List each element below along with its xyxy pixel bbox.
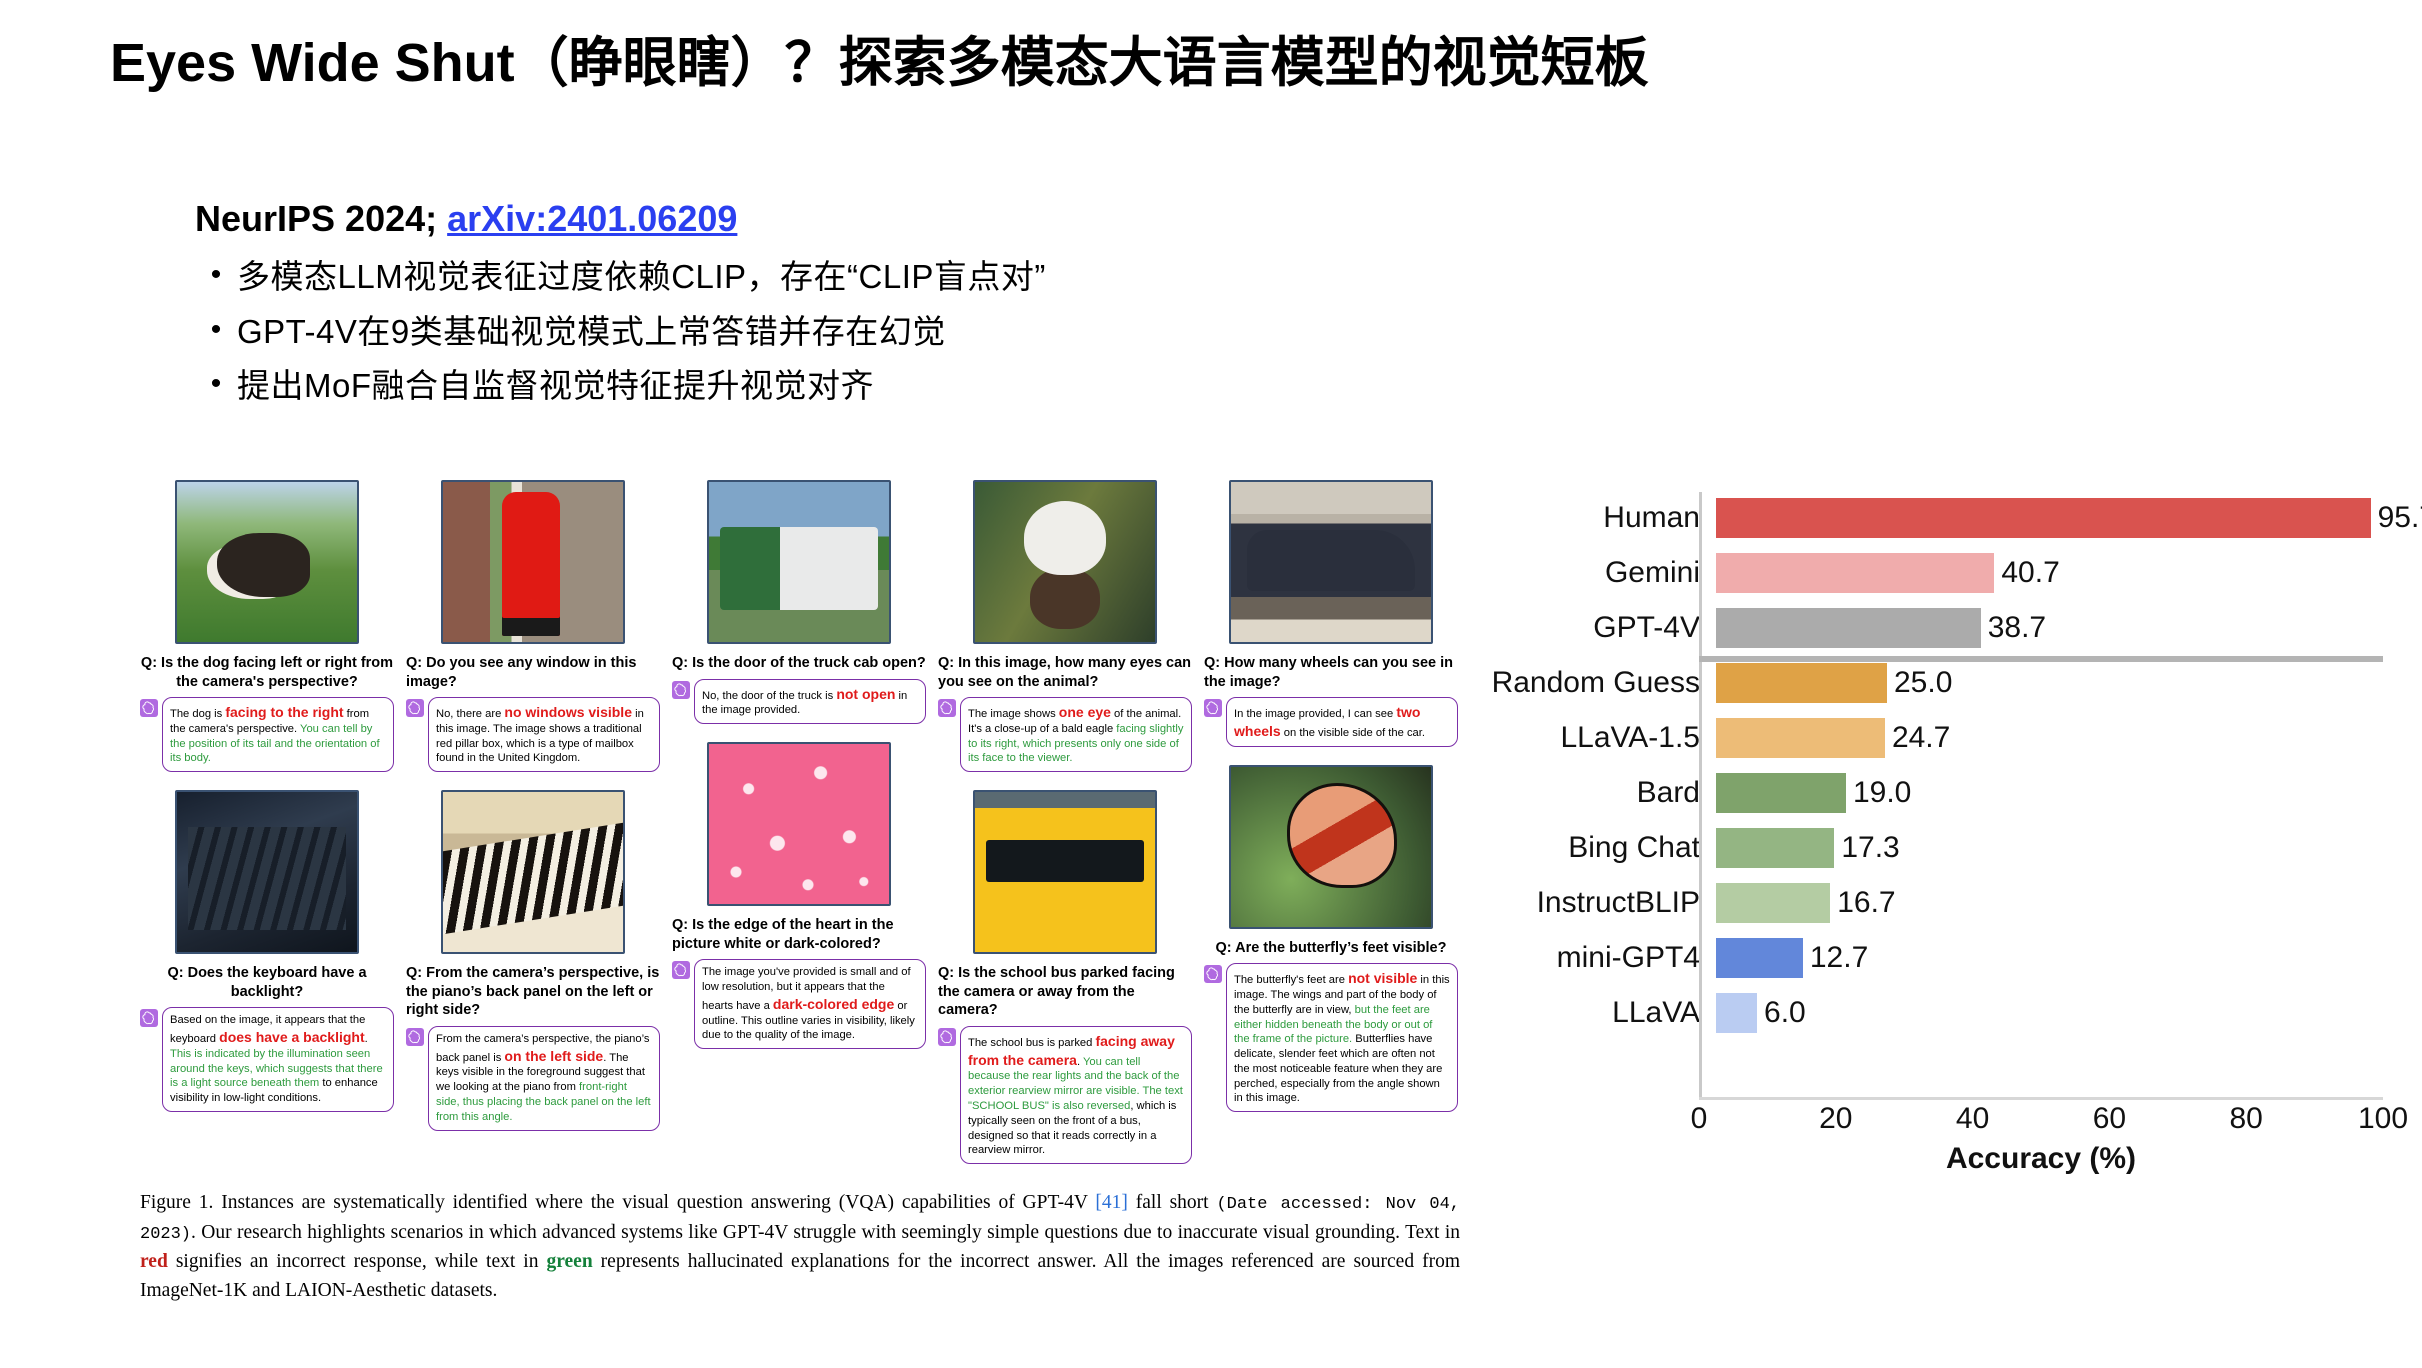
figure-grid: Q: Is the dog facing left or right from … xyxy=(140,480,1460,1170)
figure-column-2: Q: Do you see any window in this image? … xyxy=(406,480,660,1170)
chart-value-label: 6.0 xyxy=(1764,996,1806,1030)
gpt-answer: The image you've provided is small and o… xyxy=(694,959,926,1049)
vqa-panel: Q: Are the butterfly’s feet visible? The… xyxy=(1204,765,1458,1113)
gpt-answer: The school bus is parked facing away fro… xyxy=(960,1026,1192,1164)
bullet-text: 提出MoF融合自监督视觉特征提升视觉对齐 xyxy=(237,364,874,409)
chart-value-label: 19.0 xyxy=(1853,776,1911,810)
panel-question: Q: Is the school bus parked facing the c… xyxy=(938,964,1192,1020)
openai-logo-icon xyxy=(406,699,424,717)
caption-citation[interactable]: [41] xyxy=(1095,1192,1128,1213)
chart-row: GPT-4V38.7 xyxy=(1455,600,2385,655)
convertible-car-photo xyxy=(1229,480,1433,644)
chart-value-label: 38.7 xyxy=(1988,611,2046,645)
chart-value-label: 17.3 xyxy=(1841,831,1899,865)
panel-question: Q: Is the edge of the heart in the pictu… xyxy=(672,916,926,953)
chart-bar-zone: 24.7 xyxy=(1716,710,2385,765)
chart-value-label: 16.7 xyxy=(1837,886,1895,920)
panel-question: Q: From the camera’s perspective, is the… xyxy=(406,964,660,1020)
gpt-answer: From the camera’s perspective, the piano… xyxy=(428,1026,660,1131)
gpt-answer: No, the door of the truck is not open in… xyxy=(694,679,926,725)
figure-1: Q: Is the dog facing left or right from … xyxy=(140,480,1460,1280)
chart-bar xyxy=(1716,773,1846,813)
answer-bubble-wrap: The image shows one eye of the animal. I… xyxy=(938,697,1192,772)
accuracy-bar-chart: Human95.7Gemini40.7GPT-4V38.7Random Gues… xyxy=(1455,490,2385,1170)
chart-bar xyxy=(1716,718,1885,758)
chart-value-label: 12.7 xyxy=(1810,941,1868,975)
bullet-block: NeurIPS 2024; arXiv:2401.06209 • 多模态LLM视… xyxy=(195,196,1455,419)
answer-bubble-wrap: The butterfly's feet are not visible in … xyxy=(1204,963,1458,1112)
chart-value-label: 95.7 xyxy=(2378,501,2422,535)
openai-logo-icon xyxy=(672,961,690,979)
chart-row: mini-GPT412.7 xyxy=(1455,930,2385,985)
chart-bar-zone: 6.0 xyxy=(1716,985,2385,1040)
vqa-panel: Q: Is the dog facing left or right from … xyxy=(140,480,394,772)
chart-category-label: InstructBLIP xyxy=(1455,886,1716,920)
chart-tick-label: 20 xyxy=(1819,1102,1852,1136)
bullet-item-2: • GPT-4V在9类基础视觉模式上常答错并存在幻觉 xyxy=(195,310,1455,355)
bullet-text: GPT-4V在9类基础视觉模式上常答错并存在幻觉 xyxy=(237,310,946,355)
openai-logo-icon xyxy=(406,1028,424,1046)
gpt-answer: In the image provided, I can see two whe… xyxy=(1226,697,1458,747)
figure-caption: Figure 1. Instances are systematically i… xyxy=(140,1188,1460,1306)
monarch-butterfly-photo xyxy=(1229,765,1433,929)
chart-bar-zone: 40.7 xyxy=(1716,545,2385,600)
arxiv-link[interactable]: arXiv:2401.06209 xyxy=(447,198,737,239)
chart-category-label: GPT-4V xyxy=(1455,611,1716,645)
garbage-truck-photo xyxy=(707,480,891,644)
caption-part-1: Figure 1. Instances are systematically i… xyxy=(140,1192,1095,1213)
bullet-marker: • xyxy=(195,255,237,296)
gpt-answer: No, there are no windows visible in this… xyxy=(428,697,660,772)
vqa-panel: Q: Is the door of the truck cab open? No… xyxy=(672,480,926,724)
bullet-text: 多模态LLM视觉表征过度依赖CLIP，存在“CLIP盲点对” xyxy=(237,255,1046,300)
figure-column-3: Q: Is the door of the truck cab open? No… xyxy=(672,480,926,1170)
chart-bar-zone: 25.0 xyxy=(1716,655,2385,710)
answer-bubble-wrap: In the image provided, I can see two whe… xyxy=(1204,697,1458,747)
chart-bar-zone: 16.7 xyxy=(1716,875,2385,930)
chart-tick-label: 0 xyxy=(1691,1102,1708,1136)
figure-column-4: Q: In this image, how many eyes can you … xyxy=(938,480,1192,1170)
chart-category-label: Bing Chat xyxy=(1455,831,1716,865)
chart-value-label: 24.7 xyxy=(1892,721,1950,755)
panel-question: Q: Does the keyboard have a backlight? xyxy=(140,964,394,1001)
red-pillar-box-photo xyxy=(441,480,625,644)
vqa-panel: Q: How many wheels can you see in the im… xyxy=(1204,480,1458,747)
chart-category-label: mini-GPT4 xyxy=(1455,941,1716,975)
caption-red-word: red xyxy=(140,1251,168,1272)
chart-bar xyxy=(1716,553,1994,593)
openai-logo-icon xyxy=(1204,965,1222,983)
chart-row: Bard19.0 xyxy=(1455,765,2385,820)
answer-bubble-wrap: Based on the image, it appears that the … xyxy=(140,1007,394,1112)
chart-tick-label: 80 xyxy=(2230,1102,2263,1136)
openai-logo-icon xyxy=(140,1009,158,1027)
chart-x-axis-line xyxy=(1699,1097,2383,1100)
caption-part-3: . Our research highlights scenarios in w… xyxy=(191,1222,1460,1243)
chart-category-label: LLaVA xyxy=(1455,996,1716,1030)
panel-question: Q: Are the butterfly’s feet visible? xyxy=(1204,939,1458,958)
dog-in-field-photo xyxy=(175,480,359,644)
caption-part-2: fall short xyxy=(1128,1192,1217,1213)
gpt-answer: The butterfly's feet are not visible in … xyxy=(1226,963,1458,1112)
caption-green-word: green xyxy=(546,1251,592,1272)
chart-bar xyxy=(1716,608,1981,648)
chart-x-ticks: 020406080100 xyxy=(1699,1102,2383,1142)
bullet-marker: • xyxy=(195,364,237,405)
chart-bar xyxy=(1716,828,1834,868)
openai-logo-icon xyxy=(938,1028,956,1046)
chart-bar-zone: 12.7 xyxy=(1716,930,2385,985)
chart-bar xyxy=(1716,993,1757,1033)
gpt-answer: Based on the image, it appears that the … xyxy=(162,1007,394,1112)
chart-value-label: 40.7 xyxy=(2001,556,2059,590)
answer-bubble-wrap: From the camera’s perspective, the piano… xyxy=(406,1026,660,1131)
chart-category-label: Gemini xyxy=(1455,556,1716,590)
chart-category-label: Bard xyxy=(1455,776,1716,810)
chart-row: LLaVA6.0 xyxy=(1455,985,2385,1040)
chart-x-axis-label: Accuracy (%) xyxy=(1699,1142,2383,1176)
vqa-panel: Q: Do you see any window in this image? … xyxy=(406,480,660,772)
chart-bar xyxy=(1716,663,1887,703)
gpt-answer: The image shows one eye of the animal. I… xyxy=(960,697,1192,772)
chart-row: Bing Chat17.3 xyxy=(1455,820,2385,875)
chart-bar xyxy=(1716,883,1830,923)
vqa-panel: Q: Does the keyboard have a backlight? B… xyxy=(140,790,394,1112)
answer-bubble-wrap: The dog is facing to the right from the … xyxy=(140,697,394,772)
bullet-marker: • xyxy=(195,310,237,351)
chart-row: Gemini40.7 xyxy=(1455,545,2385,600)
panel-question: Q: Is the door of the truck cab open? xyxy=(672,654,926,673)
vqa-panel: Q: From the camera’s perspective, is the… xyxy=(406,790,660,1130)
chart-bar-rows: Human95.7Gemini40.7GPT-4V38.7Random Gues… xyxy=(1455,490,2385,1040)
answer-bubble-wrap: The image you've provided is small and o… xyxy=(672,959,926,1049)
figure-column-1: Q: Is the dog facing left or right from … xyxy=(140,480,394,1170)
figure-column-5: Q: How many wheels can you see in the im… xyxy=(1204,480,1458,1170)
answer-bubble-wrap: No, there are no windows visible in this… xyxy=(406,697,660,772)
chart-tick-label: 60 xyxy=(2093,1102,2126,1136)
answer-bubble-wrap: The school bus is parked facing away fro… xyxy=(938,1026,1192,1164)
chart-row: LLaVA-1.524.7 xyxy=(1455,710,2385,765)
panel-question: Q: Do you see any window in this image? xyxy=(406,654,660,691)
panel-question: Q: Is the dog facing left or right from … xyxy=(140,654,394,691)
bullet-item-3: • 提出MoF融合自监督视觉特征提升视觉对齐 xyxy=(195,364,1455,409)
chart-value-label: 25.0 xyxy=(1894,666,1952,700)
chart-bar-zone: 38.7 xyxy=(1716,600,2385,655)
venue-prefix: NeurIPS 2024; xyxy=(195,198,437,239)
chart-separator-line xyxy=(1699,656,2383,662)
page-title: Eyes Wide Shut（睁眼瞎）？探索多模态大语言模型的视觉短板 xyxy=(110,34,2360,93)
openai-logo-icon xyxy=(672,681,690,699)
chart-row: Random Guess25.0 xyxy=(1455,655,2385,710)
chart-bar-zone: 19.0 xyxy=(1716,765,2385,820)
school-bus-photo xyxy=(973,790,1157,954)
gpt-answer: The dog is facing to the right from the … xyxy=(162,697,394,772)
chart-row: Human95.7 xyxy=(1455,490,2385,545)
openai-logo-icon xyxy=(140,699,158,717)
chart-bar-zone: 95.7 xyxy=(1716,490,2422,545)
answer-bubble-wrap: No, the door of the truck is not open in… xyxy=(672,679,926,725)
hearts-pattern-photo xyxy=(707,742,891,906)
venue-line: NeurIPS 2024; arXiv:2401.06209 xyxy=(195,196,1455,241)
openai-logo-icon xyxy=(938,699,956,717)
piano-keys-photo xyxy=(441,790,625,954)
panel-question: Q: In this image, how many eyes can you … xyxy=(938,654,1192,691)
chart-tick-label: 100 xyxy=(2358,1102,2408,1136)
chart-category-label: Human xyxy=(1455,501,1716,535)
bullet-item-1: • 多模态LLM视觉表征过度依赖CLIP，存在“CLIP盲点对” xyxy=(195,255,1455,300)
caption-part-4: signifies an incorrect response, while t… xyxy=(168,1251,547,1272)
chart-tick-label: 40 xyxy=(1956,1102,1989,1136)
chart-row: InstructBLIP16.7 xyxy=(1455,875,2385,930)
vqa-panel: Q: In this image, how many eyes can you … xyxy=(938,480,1192,772)
vqa-panel: Q: Is the school bus parked facing the c… xyxy=(938,790,1192,1164)
backlit-keyboard-photo xyxy=(175,790,359,954)
bald-eagle-photo xyxy=(973,480,1157,644)
vqa-panel: Q: Is the edge of the heart in the pictu… xyxy=(672,742,926,1049)
chart-bar xyxy=(1716,498,2371,538)
chart-y-axis-line xyxy=(1699,492,1702,1098)
openai-logo-icon xyxy=(1204,699,1222,717)
panel-question: Q: How many wheels can you see in the im… xyxy=(1204,654,1458,691)
chart-bar xyxy=(1716,938,1803,978)
chart-category-label: Random Guess xyxy=(1455,666,1716,700)
chart-category-label: LLaVA-1.5 xyxy=(1455,721,1716,755)
chart-bar-zone: 17.3 xyxy=(1716,820,2385,875)
